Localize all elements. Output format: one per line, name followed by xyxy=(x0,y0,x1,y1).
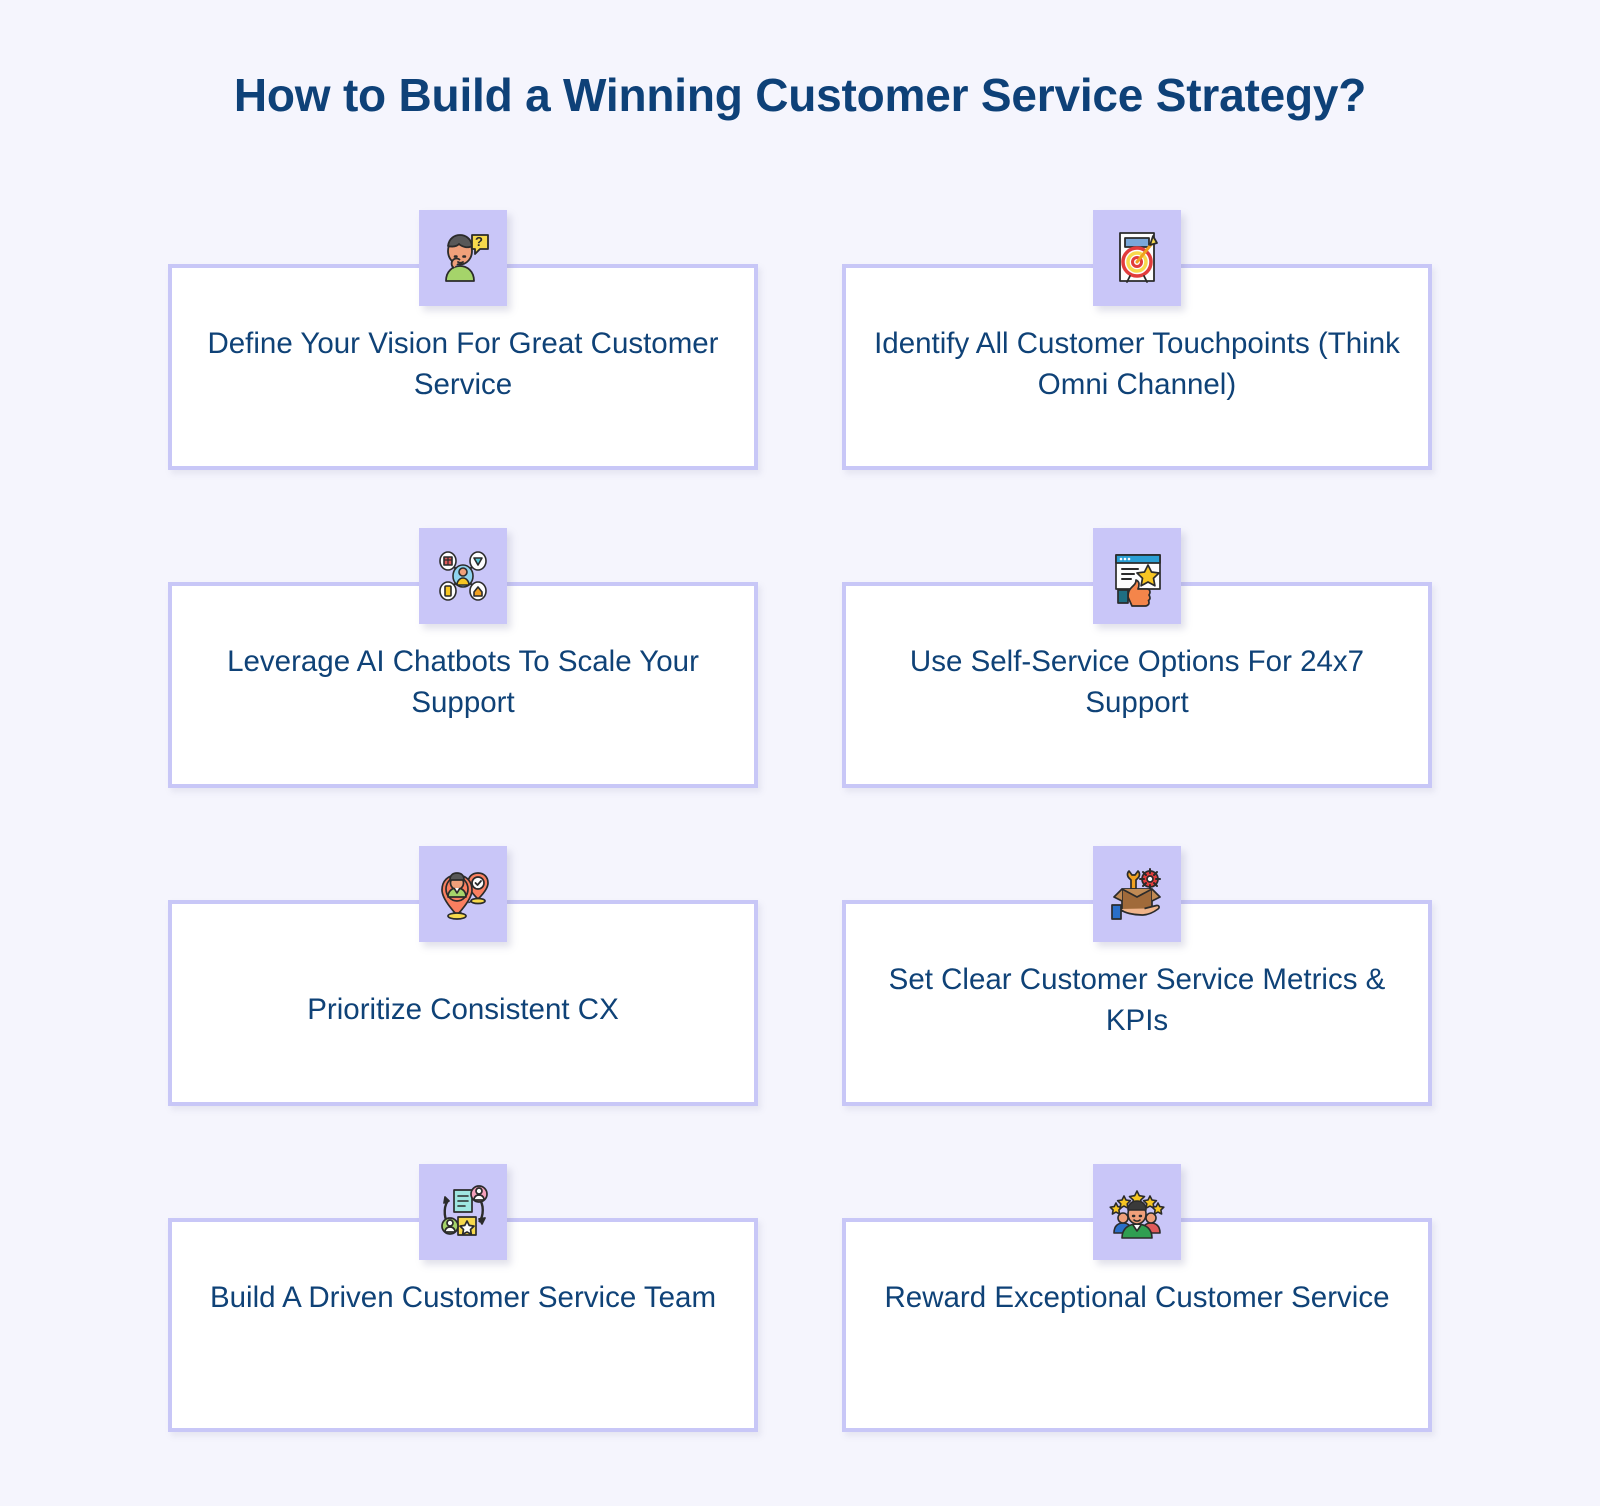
step-card-1: ? Define Your Vision For Great Customer … xyxy=(168,210,758,470)
step-label: Leverage AI Chatbots To Scale Your Suppo… xyxy=(195,642,730,784)
svg-text:?: ? xyxy=(475,234,483,249)
person-five-stars-icon xyxy=(1093,1164,1181,1260)
step-label: Set Clear Customer Service Metrics & KPI… xyxy=(869,960,1404,1102)
step-card-6: Set Clear Customer Service Metrics & KPI… xyxy=(842,846,1432,1106)
hand-toolbox-gear-icon xyxy=(1093,846,1181,942)
thinking-person-question-icon: ? xyxy=(419,210,507,306)
step-card-8: Reward Exceptional Customer Service xyxy=(842,1164,1432,1432)
target-dartboard-document-icon xyxy=(1093,210,1181,306)
step-label: Reward Exceptional Customer Service xyxy=(869,1278,1404,1428)
journey-map-pins-icon xyxy=(419,846,507,942)
step-label: Prioritize Consistent CX xyxy=(195,960,730,1102)
step-card-3: Leverage AI Chatbots To Scale Your Suppo… xyxy=(168,528,758,788)
browser-thumbsup-star-icon xyxy=(1093,528,1181,624)
page-title: How to Build a Winning Customer Service … xyxy=(0,68,1600,123)
step-label: Build A Driven Customer Service Team xyxy=(195,1278,730,1428)
step-card-4: Use Self-Service Options For 24x7 Suppor… xyxy=(842,528,1432,788)
step-card-5: Prioritize Consistent CX xyxy=(168,846,758,1106)
steps-grid: ? Define Your Vision For Great Customer … xyxy=(168,210,1432,1432)
team-feedback-cycle-icon xyxy=(419,1164,507,1260)
step-label: Use Self-Service Options For 24x7 Suppor… xyxy=(869,642,1404,784)
infographic-page: How to Build a Winning Customer Service … xyxy=(0,0,1600,1506)
step-label: Define Your Vision For Great Customer Se… xyxy=(195,324,730,466)
step-card-2: Identify All Customer Touchpoints (Think… xyxy=(842,210,1432,470)
step-card-7: Build A Driven Customer Service Team xyxy=(168,1164,758,1432)
step-label: Identify All Customer Touchpoints (Think… xyxy=(869,324,1404,466)
customer-network-hub-icon xyxy=(419,528,507,624)
